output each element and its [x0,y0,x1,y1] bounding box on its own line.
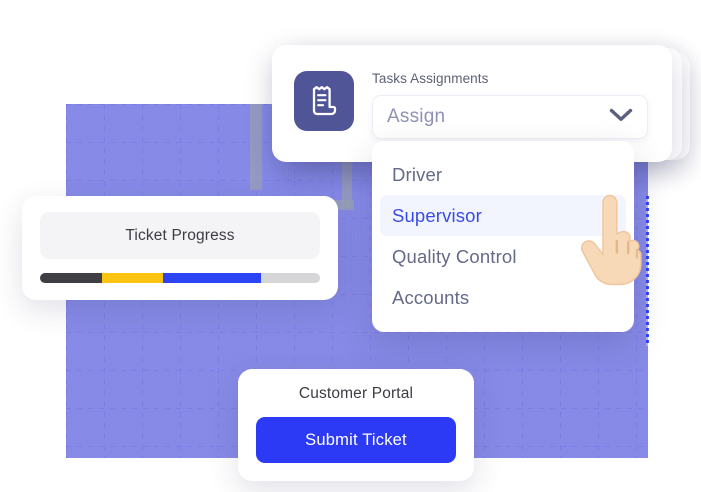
receipt-clipboard-icon [294,71,354,131]
assign-select[interactable]: Assign [372,95,648,139]
dropdown-item-label: Quality Control [392,246,517,268]
illustration-scene: Tasks Assignments Assign Driver Supervis… [0,0,701,492]
assign-select-value: Assign [387,106,445,128]
progress-segment-4 [261,273,320,283]
tasks-assignments-body: Tasks Assignments Assign [372,71,648,139]
dropdown-item-driver[interactable]: Driver [372,154,634,195]
progress-segment-1 [40,273,102,283]
ticket-progress-header: Ticket Progress [40,212,320,259]
dropdown-item-label: Supervisor [392,205,482,227]
tasks-assignments-label: Tasks Assignments [372,71,648,86]
ticket-progress-title: Ticket Progress [125,227,234,245]
dropdown-item-quality-control[interactable]: Quality Control [372,236,634,277]
chevron-down-icon[interactable] [609,108,633,127]
assign-dropdown-menu[interactable]: Driver Supervisor Quality Control Accoun… [372,141,634,332]
ticket-progress-bar [40,273,320,283]
customer-portal-card: Customer Portal Submit Ticket [238,369,474,481]
grid-edge-seam [646,196,649,346]
ticket-progress-card: Ticket Progress [22,196,338,300]
grid-hline [66,332,648,333]
dropdown-item-label: Driver [392,164,442,186]
progress-segment-2 [102,273,164,283]
progress-segment-3 [163,273,261,283]
customer-portal-title: Customer Portal [256,385,456,403]
dropdown-item-accounts[interactable]: Accounts [372,277,634,318]
dropdown-item-label: Accounts [392,287,469,309]
submit-ticket-button[interactable]: Submit Ticket [256,417,456,463]
dropdown-item-supervisor[interactable]: Supervisor [380,195,626,236]
